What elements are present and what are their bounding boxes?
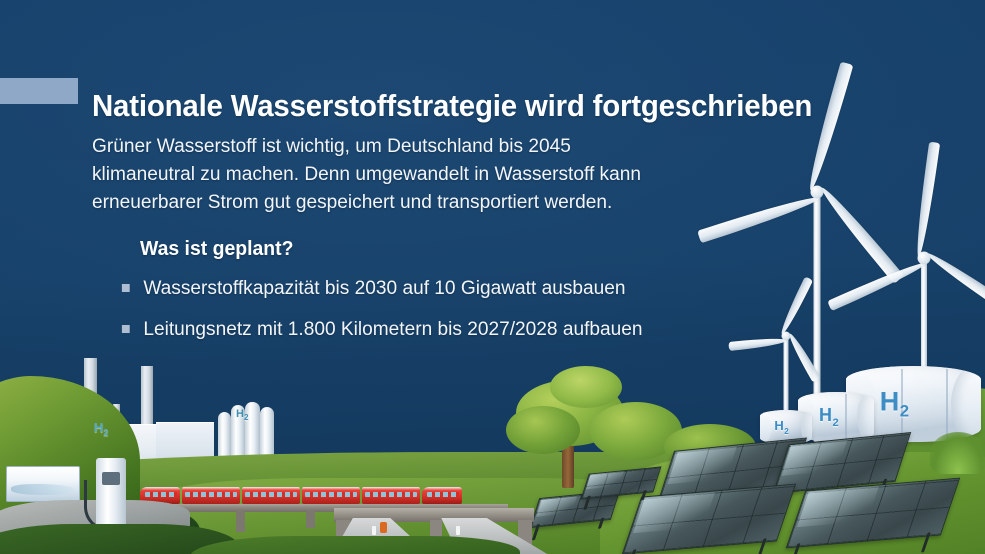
infographic-canvas: H2 H2 H2 H2 <box>0 0 985 554</box>
list-item-label: Wasserstoffkapazität bis 2030 auf 10 Gig… <box>143 277 625 299</box>
intro-line-2: klimaneutral zu machen. Denn umgewandelt… <box>92 160 775 188</box>
intro-line-3: erneuerbarer Strom gut gespeichert und t… <box>92 188 775 216</box>
list-item: Wasserstoffkapazität bis 2030 auf 10 Gig… <box>118 276 859 301</box>
page-title: Nationale Wasserstoffstrategie wird fort… <box>92 90 922 123</box>
plan-bullet-list: Wasserstoffkapazität bis 2030 auf 10 Gig… <box>118 276 878 359</box>
intro-line-1: Grüner Wasserstoff ist wichtig, um Deuts… <box>92 132 775 160</box>
decorative-accent-bar <box>0 78 78 104</box>
list-item: Leitungsnetz mit 1.800 Kilometern bis 20… <box>118 317 859 342</box>
intro-paragraph: Grüner Wasserstoff ist wichtig, um Deuts… <box>92 132 775 217</box>
list-item-label: Leitungsnetz mit 1.800 Kilometern bis 20… <box>143 318 642 340</box>
bullet-square-icon <box>122 325 130 333</box>
bullet-square-icon <box>122 284 130 292</box>
plan-subheading: Was ist geplant? <box>140 238 293 261</box>
